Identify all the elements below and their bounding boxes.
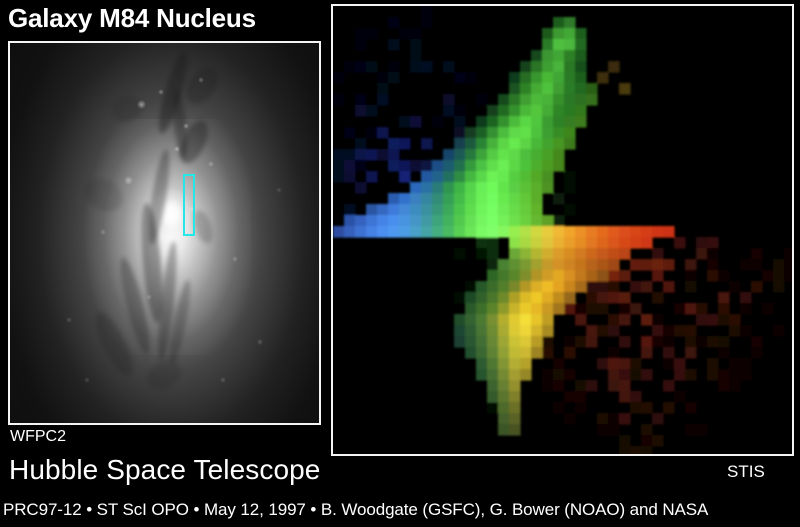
star-knot bbox=[183, 123, 189, 129]
star-knot bbox=[174, 146, 180, 152]
wfpc2-instrument-label: WFPC2 bbox=[10, 427, 66, 447]
credit-line: PRC97-12 • ST ScI OPO • May 12, 1997 • B… bbox=[3, 499, 708, 521]
page-title: Galaxy M84 Nucleus bbox=[8, 1, 256, 35]
stis-slit-marker bbox=[183, 174, 195, 236]
star-knot bbox=[158, 89, 164, 95]
star-knot bbox=[208, 161, 214, 167]
galaxy-image bbox=[10, 43, 319, 423]
wfpc2-image-panel bbox=[8, 41, 321, 425]
spectrum-heatmap bbox=[333, 6, 792, 454]
star-knot bbox=[66, 317, 72, 323]
stis-instrument-label: STIS bbox=[727, 461, 765, 482]
star-knot bbox=[100, 229, 106, 235]
star-knot bbox=[146, 294, 152, 300]
stis-spectrum-panel bbox=[331, 4, 794, 456]
observatory-title: Hubble Space Telescope bbox=[9, 452, 320, 488]
press-release-image: Galaxy M84 Nucleus WFPC2 Hubble Spa bbox=[0, 0, 800, 527]
star-knot bbox=[137, 100, 146, 109]
